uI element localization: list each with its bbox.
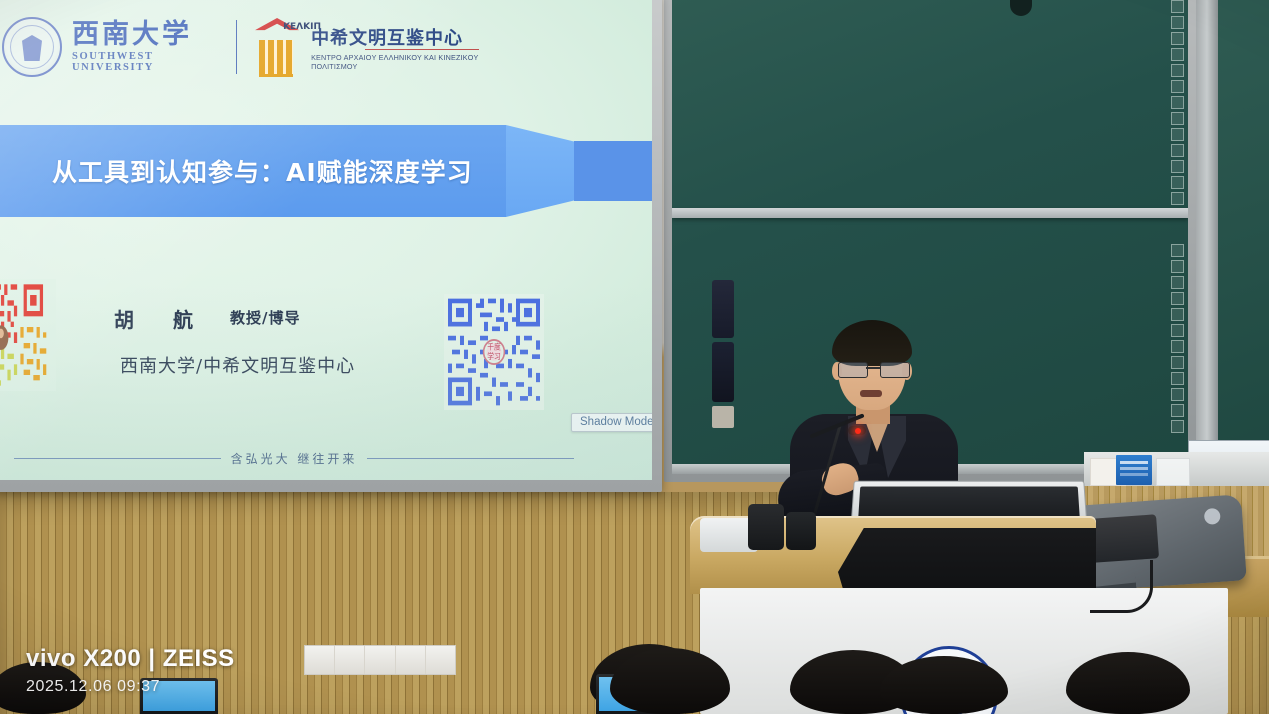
wall-outlet-panel — [304, 645, 456, 675]
podium-device-a — [748, 504, 784, 550]
slide-footer: 含弘光大 继往开来 — [0, 450, 574, 467]
board-icon — [1171, 0, 1184, 13]
kekp-logo-letters: KEΛKIΠ — [283, 22, 321, 33]
slide-title-banner: 从工具到认知参与：AI赋能深度学习 — [0, 125, 652, 217]
student-laptop — [140, 678, 218, 714]
temple-columns-shape — [259, 40, 293, 77]
chalkboard-right-section — [1218, 0, 1269, 482]
header-divider — [236, 20, 237, 74]
university-seal-icon — [2, 17, 62, 77]
wechat-qr-right-icon: 千度 学习 — [444, 294, 544, 410]
board-icon — [1171, 420, 1184, 433]
board-center-rail — [672, 208, 1188, 218]
projection-screen-frame: 西南大学 SOUTHWEST UNIVERSITY KEΛKIΠ 中希文明互鉴中… — [0, 0, 662, 492]
board-icon — [1171, 388, 1184, 401]
board-icon — [1171, 80, 1184, 93]
board-divider-post — [1196, 0, 1218, 482]
slide-title-text: 从工具到认知参与：AI赋能深度学习 — [52, 125, 473, 217]
board-icon — [1171, 404, 1184, 417]
board-icon — [1171, 16, 1184, 29]
presenter-hair — [832, 320, 912, 366]
board-eraser-lower — [712, 342, 734, 402]
slide-speaker-affiliation: 西南大学/中希文明互鉴中心 — [120, 352, 355, 378]
svg-text:学习: 学习 — [487, 351, 501, 361]
shadow-mode-button[interactable]: Shadow Mode — [571, 413, 652, 432]
board-icon — [1171, 192, 1184, 205]
center-name-cn: 中希文明互鉴中心 — [311, 24, 502, 50]
board-icon — [1171, 160, 1184, 173]
board-icon — [1171, 308, 1184, 321]
board-icon-strip-top — [1171, 0, 1184, 205]
board-icon — [1171, 48, 1184, 61]
board-icon — [1171, 356, 1184, 369]
kekp-temple-icon: KEΛKIΠ — [253, 18, 305, 76]
board-icon — [1171, 324, 1184, 337]
glasses-lens-left — [838, 362, 868, 378]
board-icon — [1171, 144, 1184, 157]
board-icon — [1171, 112, 1184, 125]
board-icon — [1171, 260, 1184, 273]
presenter-mouth — [860, 390, 882, 397]
board-icon — [1171, 128, 1184, 141]
podium-device-b — [786, 512, 816, 550]
glasses-bridge — [866, 367, 880, 369]
slide-logo-header: 西南大学 SOUTHWEST UNIVERSITY KEΛKIΠ 中希文明互鉴中… — [2, 8, 502, 86]
chalk-piece — [712, 406, 734, 428]
board-icon — [1171, 96, 1184, 109]
slide-speaker-title: 教授/博导 — [230, 307, 300, 328]
board-icon — [1171, 32, 1184, 45]
slide-footer-motto: 含弘光大 继往开来 — [231, 450, 358, 467]
ledge-box-blue — [1116, 455, 1152, 485]
footer-rule-left — [14, 458, 221, 459]
university-name-en: SOUTHWEST UNIVERSITY — [72, 51, 220, 73]
university-name-cn: 西南大学 — [72, 21, 220, 48]
podium-cable — [1090, 560, 1153, 613]
board-icon — [1171, 292, 1184, 305]
svg-text:千度: 千度 — [487, 342, 501, 352]
banner-tail-block — [574, 141, 652, 201]
microphone-led-icon — [855, 428, 861, 434]
board-icon — [1171, 372, 1184, 385]
board-icon — [1171, 176, 1184, 189]
footer-rule-right — [367, 458, 574, 459]
glasses-icon — [836, 362, 910, 376]
banner-fold-block — [506, 125, 574, 217]
board-icon — [1171, 64, 1184, 77]
lecture-photo: 西南大学 SOUTHWEST UNIVERSITY KEΛKIΠ 中希文明互鉴中… — [0, 0, 1269, 714]
ledge-box-clear — [1156, 458, 1190, 486]
board-eraser-upper — [712, 280, 734, 338]
wechat-qr-left-icon — [0, 279, 56, 391]
slide-speaker-name: 胡 航 — [114, 304, 209, 333]
board-icon — [1171, 244, 1184, 257]
center-name-gr: KENTPO APXAIOY EΛΛΗΝΙΚΟΥ KAI KINEZIKOY Π… — [311, 53, 502, 71]
board-icon — [1171, 276, 1184, 289]
glasses-lens-right — [880, 362, 910, 378]
board-icon — [1171, 340, 1184, 353]
board-knob — [1010, 0, 1032, 16]
board-icon-strip-bottom — [1171, 244, 1184, 433]
projected-slide: 西南大学 SOUTHWEST UNIVERSITY KEΛKIΠ 中希文明互鉴中… — [0, 0, 652, 480]
